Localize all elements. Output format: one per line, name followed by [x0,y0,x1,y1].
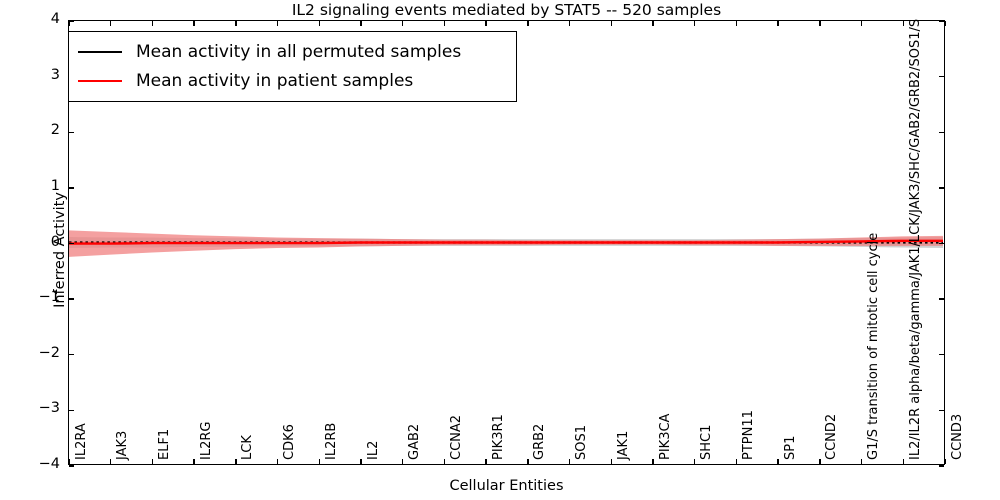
x-tick-mark [193,459,194,464]
x-tick-mark [444,21,445,26]
legend-item[interactable]: Mean activity in patient samples [78,66,506,95]
x-tick-mark [277,21,278,26]
x-tick-mark [861,21,862,26]
y-tick-mark [69,410,74,411]
x-tick-mark [527,459,528,464]
y-tick-mark [939,354,944,355]
x-tick-mark [485,21,486,26]
legend-swatch-icon [78,80,122,82]
y-tick-mark [69,298,74,299]
y-tick-label: 0 [51,234,60,250]
x-tick-label: IL2/IL2R alpha/beta/gamma/JAK1/LCK/JAK3/… [908,19,923,460]
y-tick-mark [939,243,944,244]
legend-swatch-icon [78,51,122,53]
x-tick-mark [944,459,945,464]
x-tick-mark [736,21,737,26]
x-tick-label: LCK [240,435,255,460]
y-tick-mark [939,132,944,133]
y-tick-mark [939,410,944,411]
y-tick-mark [939,465,944,466]
y-tick-label: 1 [51,178,60,194]
y-tick-mark [939,298,944,299]
x-tick-label: PIK3R1 [491,414,506,460]
x-tick-mark [152,21,153,26]
y-tick-mark [69,187,74,188]
x-tick-label: SHC1 [699,425,714,460]
y-tick-mark [69,243,74,244]
x-tick-mark [193,21,194,26]
x-tick-mark [652,459,653,464]
x-tick-mark [694,459,695,464]
x-tick-mark [402,459,403,464]
x-tick-label: PIK3CA [658,414,673,460]
x-tick-label: IL2RG [199,422,214,460]
y-tick-mark [939,20,944,21]
x-tick-mark [235,21,236,26]
x-tick-mark [110,459,111,464]
x-tick-mark [277,459,278,464]
x-tick-mark [68,459,69,464]
legend-label: Mean activity in all permuted samples [136,42,461,62]
x-tick-mark [694,21,695,26]
y-tick-mark [939,187,944,188]
x-tick-label: CCNA2 [449,415,464,460]
legend-label: Mean activity in patient samples [136,71,413,91]
y-tick-mark [69,20,74,21]
x-tick-label: CDK6 [282,424,297,460]
x-tick-mark [861,459,862,464]
x-tick-mark [68,21,69,26]
x-tick-label: IL2RB [324,423,339,460]
x-tick-mark [819,459,820,464]
x-tick-mark [110,21,111,26]
x-tick-mark [569,459,570,464]
y-tick-label: −4 [39,456,60,472]
x-tick-mark [819,21,820,26]
x-tick-label: PTPN11 [741,410,756,460]
x-tick-mark [611,21,612,26]
x-tick-label: CCND2 [824,414,839,460]
y-tick-label: −1 [39,289,60,305]
x-tick-mark [777,21,778,26]
x-tick-label: GRB2 [532,424,547,460]
x-tick-label: JAK1 [616,431,631,460]
y-tick-label: 3 [51,67,60,83]
y-tick-mark [69,354,74,355]
x-tick-mark [485,459,486,464]
x-tick-mark [319,459,320,464]
x-tick-label: ELF1 [157,429,172,460]
x-tick-mark [611,459,612,464]
x-tick-mark [944,21,945,26]
y-tick-mark [69,465,74,466]
x-tick-mark [777,459,778,464]
y-axis-label-wrapper: Inferred Activity [4,0,26,500]
x-tick-label: SOS1 [574,425,589,460]
x-tick-mark [319,21,320,26]
y-tick-label: 4 [51,11,60,27]
x-axis-label: Cellular Entities [68,478,945,494]
chart-title: IL2 signaling events mediated by STAT5 -… [68,1,945,19]
y-tick-label: −3 [39,400,60,416]
x-tick-label: SP1 [783,436,798,460]
x-tick-label: CCND3 [950,414,965,460]
y-tick-label: −2 [39,345,60,361]
x-tick-mark [569,21,570,26]
x-tick-label: G1/S transition of mitotic cell cycle [866,233,881,460]
x-tick-mark [402,21,403,26]
x-tick-label: JAK3 [115,431,130,460]
chart-figure: IL2 signaling events mediated by STAT5 -… [0,0,1000,500]
x-tick-mark [235,459,236,464]
y-tick-label: 2 [51,122,60,138]
x-tick-mark [736,459,737,464]
x-tick-mark [903,459,904,464]
x-tick-mark [527,21,528,26]
x-tick-label: IL2 [366,441,381,460]
x-tick-mark [652,21,653,26]
chart-legend: Mean activity in all permuted samplesMea… [68,31,517,102]
x-tick-mark [444,459,445,464]
x-tick-mark [360,21,361,26]
x-tick-label: GAB2 [407,424,422,460]
x-tick-mark [360,459,361,464]
x-tick-label: IL2RA [74,423,89,460]
x-tick-mark [152,459,153,464]
legend-item[interactable]: Mean activity in all permuted samples [78,37,506,66]
y-tick-mark [939,76,944,77]
y-tick-mark [69,132,74,133]
x-tick-mark [903,21,904,26]
